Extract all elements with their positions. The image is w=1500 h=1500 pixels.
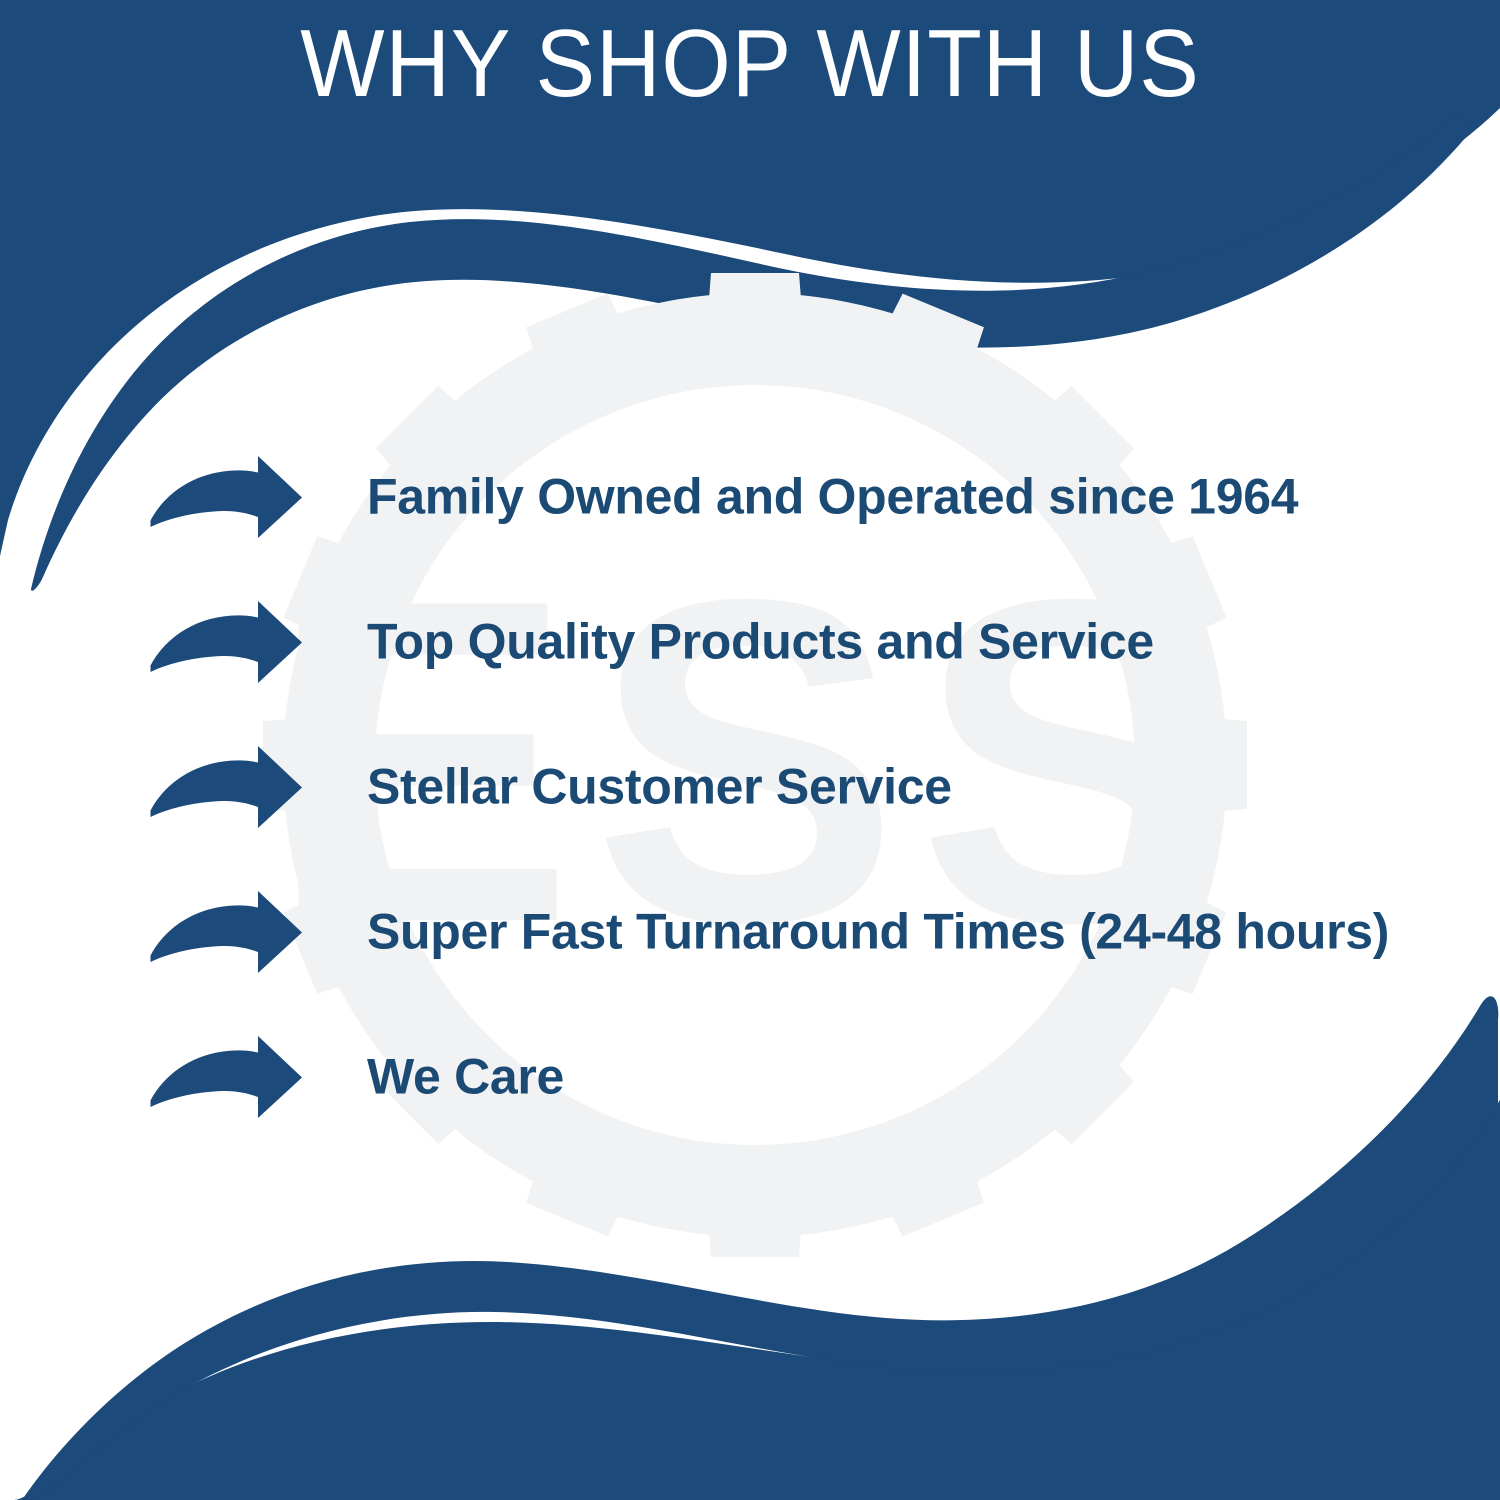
curved-arrow-right-icon [150, 1035, 302, 1119]
list-item-label: Family Owned and Operated since 1964 [367, 469, 1298, 524]
list-item-label: Super Fast Turnaround Times (24-48 hours… [367, 904, 1389, 959]
curved-arrow-right-icon [150, 455, 302, 539]
list-item: We Care [0, 1004, 1500, 1149]
why-shop-with-us-poster: ESS WHY SHOP WITH US Family Owned and Op… [0, 0, 1500, 1500]
benefits-list: Family Owned and Operated since 1964 Top… [0, 424, 1500, 1149]
curved-arrow-right-icon [150, 745, 302, 829]
list-item: Stellar Customer Service [0, 714, 1500, 859]
list-item: Family Owned and Operated since 1964 [0, 424, 1500, 569]
list-item-label: Stellar Customer Service [367, 759, 952, 814]
list-item: Super Fast Turnaround Times (24-48 hours… [0, 859, 1500, 1004]
list-item-label: Top Quality Products and Service [367, 614, 1154, 669]
list-item: Top Quality Products and Service [0, 569, 1500, 714]
curved-arrow-right-icon [150, 600, 302, 684]
page-title: WHY SHOP WITH US [53, 14, 1448, 115]
curved-arrow-right-icon [150, 890, 302, 974]
list-item-label: We Care [367, 1049, 564, 1104]
